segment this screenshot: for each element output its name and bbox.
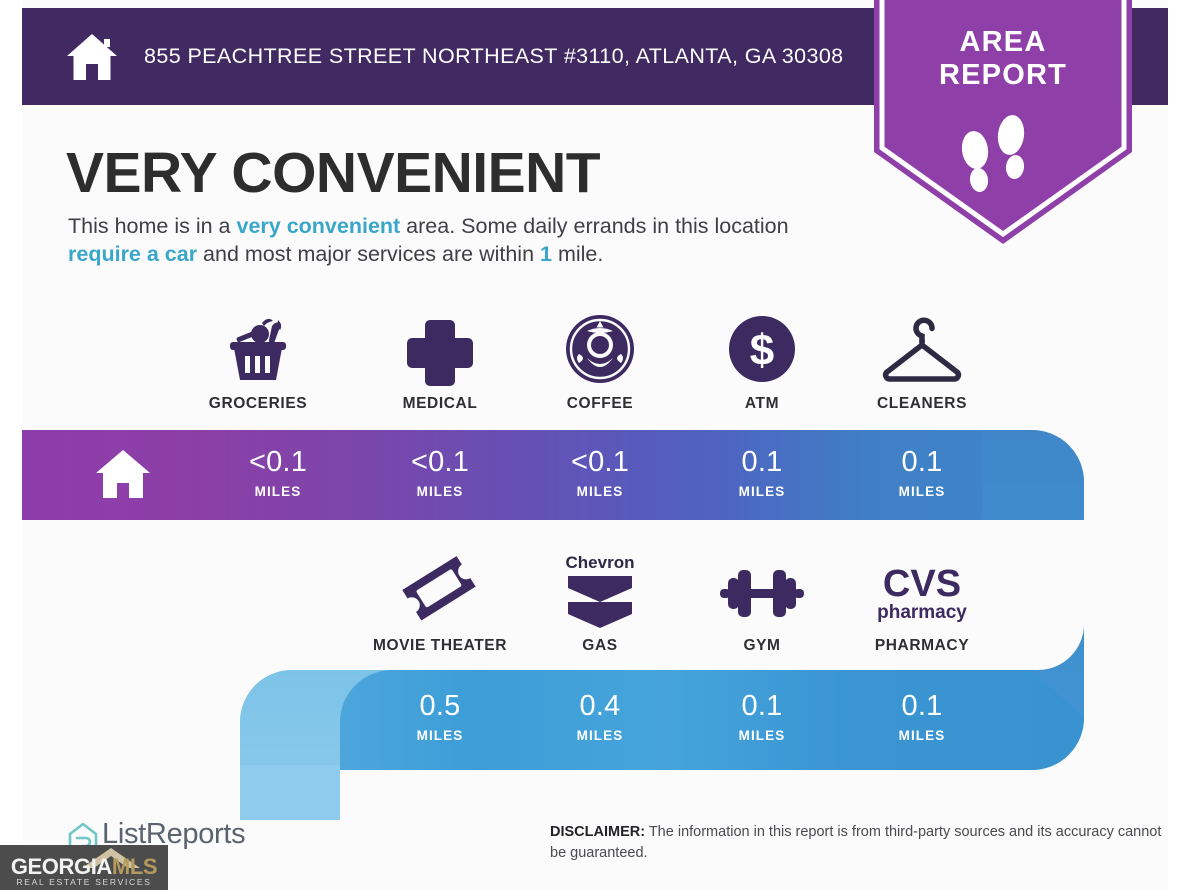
mls-word: MLS — [112, 854, 157, 879]
distance-value: <0.1 — [198, 448, 358, 477]
distance-groceries: <0.1 MILES — [198, 448, 358, 499]
amenity-coffee: COFFEE — [520, 310, 680, 413]
distance-unit: MILES — [198, 484, 358, 499]
grocery-basket-icon — [178, 310, 338, 386]
area-report-page: 855 PEACHTREE STREET NORTHEAST #3110, AT… — [0, 0, 1200, 890]
chevron-wordmark: Chevron — [566, 553, 635, 572]
svg-text:$: $ — [750, 326, 774, 375]
amenity-medical: MEDICAL — [360, 310, 520, 413]
georgia-word: GEORGIA — [11, 854, 112, 879]
badge-shield-shape — [868, 0, 1138, 250]
dumbbell-icon — [682, 552, 842, 628]
amenity-atm: $ ATM — [682, 310, 842, 413]
distance-value: 0.1 — [842, 448, 1002, 477]
pharmacy-wordmark: pharmacy — [877, 602, 967, 623]
desc-part-3: and most major services are within — [197, 242, 540, 266]
distance-gas: 0.4 MILES — [520, 692, 680, 743]
desc-mile-number: 1 — [540, 242, 552, 266]
distance-value: <0.1 — [360, 448, 520, 477]
desc-part-1: This home is in a — [68, 214, 236, 238]
page-title: VERY CONVENIENT — [66, 140, 600, 206]
georgia-mls-watermark: GEORGIAMLS REAL ESTATE SERVICES — [0, 845, 168, 890]
amenity-movie-theater: MOVIE THEATER — [360, 552, 520, 655]
amenity-label: PHARMACY — [842, 637, 1002, 655]
amenity-label: GYM — [682, 637, 842, 655]
amenity-label: COFFEE — [520, 395, 680, 413]
desc-part-2: area. Some daily errands in this locatio… — [400, 214, 788, 238]
report-sheet: 855 PEACHTREE STREET NORTHEAST #3110, AT… — [22, 0, 1168, 890]
desc-highlight-convenient: very convenient — [236, 214, 400, 238]
amenity-groceries: GROCERIES — [178, 310, 338, 413]
amenity-label: ATM — [682, 395, 842, 413]
home-icon — [94, 447, 152, 502]
area-report-badge: AREA REPORT — [868, 0, 1138, 250]
distance-unit: MILES — [682, 484, 842, 499]
amenity-label: CLEANERS — [842, 395, 1002, 413]
distance-atm: 0.1 MILES — [682, 448, 842, 499]
amenity-label: MEDICAL — [360, 395, 520, 413]
amenity-gas: Chevron GAS — [520, 552, 680, 655]
amenity-label: GAS — [520, 637, 680, 655]
amenity-label: GROCERIES — [178, 395, 338, 413]
distance-unit: MILES — [520, 728, 680, 743]
distance-value: 0.4 — [520, 692, 680, 721]
amenity-pharmacy: CVS pharmacy PHARMACY — [842, 552, 1002, 655]
distance-gym: 0.1 MILES — [682, 692, 842, 743]
distance-value: <0.1 — [520, 448, 680, 477]
distance-pharmacy: 0.1 MILES — [842, 692, 1002, 743]
movie-ticket-icon — [360, 552, 520, 628]
distance-value: 0.1 — [682, 692, 842, 721]
distance-unit: MILES — [682, 728, 842, 743]
distance-unit: MILES — [842, 484, 1002, 499]
distance-coffee: <0.1 MILES — [520, 448, 680, 499]
home-icon — [64, 31, 120, 83]
chevron-logo-icon: Chevron — [520, 552, 680, 628]
property-address: 855 PEACHTREE STREET NORTHEAST #3110, AT… — [144, 42, 844, 71]
distance-unit: MILES — [842, 728, 1002, 743]
disclaimer-label: DISCLAIMER: — [550, 824, 645, 840]
description-text: This home is in a very convenient area. … — [68, 212, 858, 269]
clothes-hanger-icon — [842, 310, 1002, 386]
distance-movie-theater: 0.5 MILES — [360, 692, 520, 743]
distance-unit: MILES — [520, 484, 680, 499]
dollar-circle-icon: $ — [682, 310, 842, 386]
distance-cleaners: 0.1 MILES — [842, 448, 1002, 499]
amenity-icon-row-2: MOVIE THEATER Chevron GAS — [22, 552, 1168, 667]
desc-highlight-car: require a car — [68, 242, 197, 266]
amenity-cleaners: CLEANERS — [842, 310, 1002, 413]
starbucks-logo-icon — [520, 310, 680, 386]
medical-cross-icon — [360, 310, 520, 386]
georgia-mls-wordmark: GEORGIAMLS — [0, 856, 168, 878]
distance-value: 0.1 — [682, 448, 842, 477]
distance-value: 0.1 — [842, 692, 1002, 721]
amenity-label: MOVIE THEATER — [360, 637, 520, 655]
cvs-pharmacy-icon: CVS pharmacy — [842, 552, 1002, 628]
distance-unit: MILES — [360, 484, 520, 499]
disclaimer-text: DISCLAIMER: The information in this repo… — [550, 822, 1165, 864]
distance-unit: MILES — [360, 728, 520, 743]
distance-medical: <0.1 MILES — [360, 448, 520, 499]
distance-value: 0.5 — [360, 692, 520, 721]
amenity-gym: GYM — [682, 552, 842, 655]
cvs-wordmark: CVS — [883, 563, 961, 605]
desc-part-4: mile. — [552, 242, 603, 266]
amenity-icon-row-1: GROCERIES MEDICAL — [22, 310, 1168, 420]
watermark-tagline: REAL ESTATE SERVICES — [0, 877, 168, 887]
